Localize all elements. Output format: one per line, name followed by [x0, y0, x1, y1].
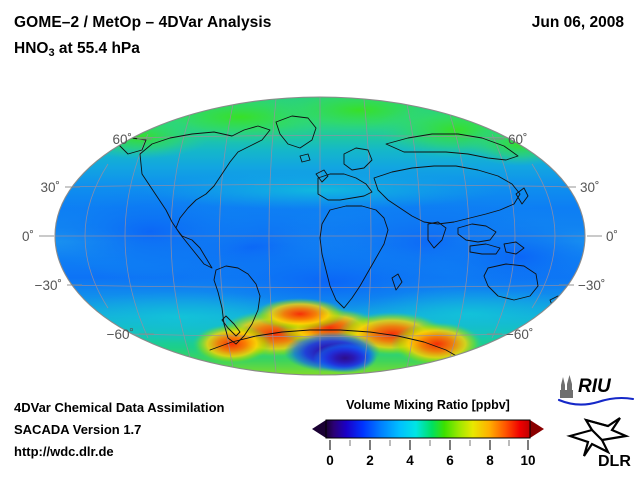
- cathedral-icon: [560, 375, 573, 398]
- colorbar-tick-label-4: 4: [406, 453, 414, 468]
- colorbar-scale: 0 2 4 6 8 10: [312, 418, 544, 472]
- lat-label-right-30: 30˚: [580, 180, 600, 195]
- dlr-wordmark: DLR: [598, 453, 631, 470]
- page-title: GOME–2 / MetOp – 4DVar Analysis: [14, 14, 272, 32]
- species-level: at 55.4 hPa: [55, 40, 140, 57]
- species-subtitle: HNO3 at 55.4 hPa: [14, 40, 140, 58]
- analysis-date: Jun 06, 2008: [532, 14, 624, 32]
- lat-label-left-60: 60˚: [112, 132, 132, 147]
- lat-label-left-m30: −30˚: [35, 278, 62, 293]
- riu-wave: [559, 398, 633, 405]
- colorbar-tick-label-6: 6: [446, 453, 454, 468]
- colorbar-title: Volume Mixing Ratio [ppbv]: [312, 398, 544, 412]
- species-formula: HNO: [14, 40, 48, 57]
- colorbar-tick-label-10: 10: [520, 453, 535, 468]
- dlr-logo[interactable]: DLR: [562, 412, 636, 470]
- colorbar-tick-label-2: 2: [366, 453, 374, 468]
- colorbar-high-arrow-cap: [530, 420, 544, 438]
- colorbar-minor-ticks: [350, 440, 509, 446]
- species-subscript: 3: [48, 47, 54, 59]
- mollweide-map[interactable]: 60˚ 30˚ 0˚ −30˚ −60˚ 60˚ 30˚ 0˚ −30˚ −60…: [0, 82, 640, 382]
- lat-label-right-m30: −30˚: [578, 278, 605, 293]
- riu-wordmark: RIU: [578, 376, 612, 397]
- world-map-panel[interactable]: 60˚ 30˚ 0˚ −30˚ −60˚ 60˚ 30˚ 0˚ −30˚ −60…: [0, 82, 640, 382]
- lat-label-left-0: 0˚: [22, 229, 34, 244]
- dlr-star-icon: [570, 418, 626, 456]
- colorbar-legend: Volume Mixing Ratio [ppbv]: [312, 398, 544, 474]
- colorbar-major-ticks: [330, 440, 528, 450]
- riu-logo[interactable]: RIU: [556, 372, 636, 408]
- lat-label-right-0: 0˚: [606, 229, 618, 244]
- colorbar-low-arrow-cap: [312, 420, 326, 438]
- footer-version: SACADA Version 1.7: [14, 422, 141, 437]
- lat-label-left-m60: −60˚: [107, 327, 134, 342]
- lat-label-right-m60: −60˚: [506, 327, 533, 342]
- colorbar-tick-label-0: 0: [326, 453, 334, 468]
- colorbar-tick-label-8: 8: [486, 453, 494, 468]
- lat-label-right-60: 60˚: [508, 132, 528, 147]
- lat-label-left-30: 30˚: [40, 180, 60, 195]
- footer-description: 4DVar Chemical Data Assimilation: [14, 400, 225, 415]
- footer-url[interactable]: http://wdc.dlr.de: [14, 444, 114, 459]
- colorbar-gradient: [326, 420, 530, 438]
